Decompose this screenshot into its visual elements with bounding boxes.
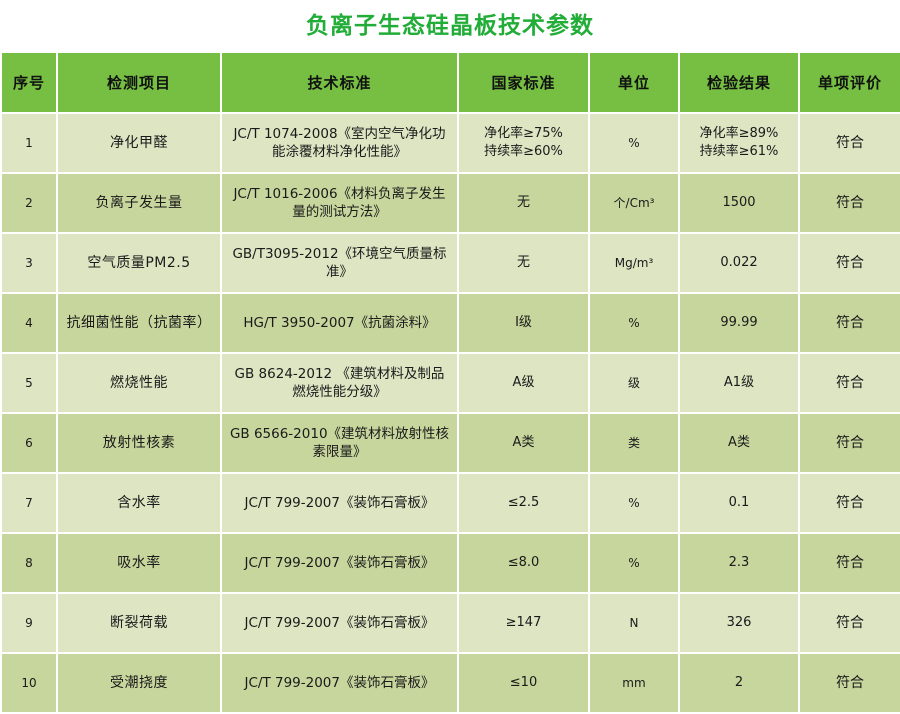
cell-evaluation: 符合 [799,653,900,713]
cell-standard: HG/T 3950-2007《抗菌涂料》 [221,293,458,353]
cell-unit: 个/Cm³ [589,173,679,233]
cell-standard: JC/T 799-2007《装饰石膏板》 [221,653,458,713]
cell-item: 负离子发生量 [57,173,221,233]
cell-result: 326 [679,593,799,653]
cell-no: 8 [1,533,57,593]
column-header-unit: 单位 [589,53,679,114]
column-header-item: 检测项目 [57,53,221,114]
cell-no: 7 [1,473,57,533]
cell-no: 9 [1,593,57,653]
cell-item: 受潮挠度 [57,653,221,713]
cell-national: 净化率≥75%持续率≥60% [458,113,589,173]
table-header: 序号 检测项目 技术标准 国家标准 单位 检验结果 单项评价 [1,53,900,114]
cell-no: 4 [1,293,57,353]
cell-evaluation: 符合 [799,113,900,173]
cell-unit: N [589,593,679,653]
table-header-row: 序号 检测项目 技术标准 国家标准 单位 检验结果 单项评价 [1,53,900,114]
cell-standard: GB/T3095-2012《环境空气质量标准》 [221,233,458,293]
cell-evaluation: 符合 [799,353,900,413]
cell-national-lines: 净化率≥75%持续率≥60% [460,125,587,160]
cell-item: 抗细菌性能（抗菌率） [57,293,221,353]
cell-standard: JC/T 1074-2008《室内空气净化功能涂覆材料净化性能》 [221,113,458,173]
cell-standard: JC/T 799-2007《装饰石膏板》 [221,593,458,653]
cell-standard: JC/T 799-2007《装饰石膏板》 [221,473,458,533]
cell-unit: 级 [589,353,679,413]
cell-standard: GB 6566-2010《建筑材料放射性核素限量》 [221,413,458,473]
column-header-no: 序号 [1,53,57,114]
cell-national: 无 [458,173,589,233]
cell-standard: GB 8624-2012 《建筑材料及制品燃烧性能分级》 [221,353,458,413]
cell-no: 5 [1,353,57,413]
cell-unit: % [589,293,679,353]
cell-national: ≤2.5 [458,473,589,533]
cell-result: 1500 [679,173,799,233]
page-title: 负离子生态硅晶板技术参数 [0,0,900,52]
cell-standard: JC/T 1016-2006《材料负离子发生量的测试方法》 [221,173,458,233]
table-row: 2负离子发生量JC/T 1016-2006《材料负离子发生量的测试方法》无个/C… [1,173,900,233]
cell-result: 99.99 [679,293,799,353]
cell-item: 放射性核素 [57,413,221,473]
cell-unit: % [589,113,679,173]
cell-evaluation: 符合 [799,173,900,233]
cell-evaluation: 符合 [799,413,900,473]
column-header-evaluation: 单项评价 [799,53,900,114]
cell-national: A类 [458,413,589,473]
table-body: 1净化甲醛JC/T 1074-2008《室内空气净化功能涂覆材料净化性能》净化率… [1,113,900,713]
cell-national-line-1: 净化率≥75% [460,125,587,143]
cell-evaluation: 符合 [799,293,900,353]
cell-national: ≤8.0 [458,533,589,593]
cell-evaluation: 符合 [799,233,900,293]
technical-parameters-table: 序号 检测项目 技术标准 国家标准 单位 检验结果 单项评价 1净化甲醛JC/T… [0,52,900,714]
cell-unit: % [589,533,679,593]
cell-result-line-1: 净化率≥89% [681,125,797,143]
cell-result: 0.1 [679,473,799,533]
cell-result-line-2: 持续率≥61% [681,143,797,161]
cell-unit: 类 [589,413,679,473]
spec-sheet-page: 负离子生态硅晶板技术参数 序号 检测项目 技术标准 国家标准 单位 检验结果 单… [0,0,900,679]
table-row: 10受潮挠度JC/T 799-2007《装饰石膏板》≤10mm2符合 [1,653,900,713]
cell-national-line-2: 持续率≥60% [460,143,587,161]
cell-item: 燃烧性能 [57,353,221,413]
cell-national: ≥147 [458,593,589,653]
cell-result: A类 [679,413,799,473]
cell-item: 含水率 [57,473,221,533]
table-row: 6放射性核素GB 6566-2010《建筑材料放射性核素限量》A类类A类符合 [1,413,900,473]
table-row: 8吸水率JC/T 799-2007《装饰石膏板》≤8.0%2.3符合 [1,533,900,593]
cell-no: 10 [1,653,57,713]
column-header-result: 检验结果 [679,53,799,114]
cell-national: 无 [458,233,589,293]
cell-national: A级 [458,353,589,413]
cell-result: 0.022 [679,233,799,293]
cell-item: 吸水率 [57,533,221,593]
cell-no: 1 [1,113,57,173]
cell-result: 2.3 [679,533,799,593]
cell-no: 3 [1,233,57,293]
table-row: 9断裂荷载JC/T 799-2007《装饰石膏板》≥147N326符合 [1,593,900,653]
cell-evaluation: 符合 [799,533,900,593]
cell-result-lines: 净化率≥89%持续率≥61% [681,125,797,160]
cell-no: 2 [1,173,57,233]
cell-item: 净化甲醛 [57,113,221,173]
cell-standard: JC/T 799-2007《装饰石膏板》 [221,533,458,593]
table-row: 5燃烧性能GB 8624-2012 《建筑材料及制品燃烧性能分级》A级级A1级符… [1,353,900,413]
cell-item: 断裂荷载 [57,593,221,653]
cell-result: 2 [679,653,799,713]
cell-result: A1级 [679,353,799,413]
cell-national: Ⅰ级 [458,293,589,353]
table-row: 1净化甲醛JC/T 1074-2008《室内空气净化功能涂覆材料净化性能》净化率… [1,113,900,173]
column-header-standard: 技术标准 [221,53,458,114]
column-header-national: 国家标准 [458,53,589,114]
table-row: 3空气质量PM2.5GB/T3095-2012《环境空气质量标准》无Mg/m³0… [1,233,900,293]
cell-item: 空气质量PM2.5 [57,233,221,293]
table-row: 4抗细菌性能（抗菌率）HG/T 3950-2007《抗菌涂料》Ⅰ级%99.99符… [1,293,900,353]
cell-result: 净化率≥89%持续率≥61% [679,113,799,173]
cell-evaluation: 符合 [799,593,900,653]
table-row: 7含水率JC/T 799-2007《装饰石膏板》≤2.5%0.1符合 [1,473,900,533]
cell-unit: % [589,473,679,533]
cell-unit: Mg/m³ [589,233,679,293]
cell-unit: mm [589,653,679,713]
cell-evaluation: 符合 [799,473,900,533]
cell-national: ≤10 [458,653,589,713]
cell-no: 6 [1,413,57,473]
